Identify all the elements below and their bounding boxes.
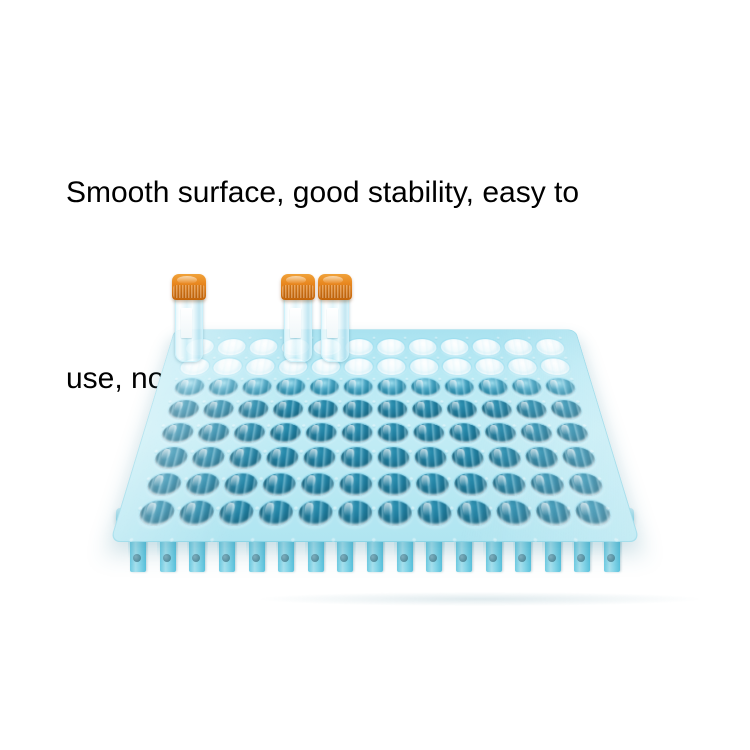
well-r6-c11 — [524, 447, 560, 469]
well-r6-c10 — [487, 447, 522, 469]
well-r2-c11 — [507, 358, 539, 375]
well-r5-c4 — [269, 423, 302, 443]
well-r4-c8 — [412, 400, 443, 419]
well-r4-c11 — [515, 400, 549, 419]
well-r6-c1 — [152, 447, 189, 469]
well-r5-c3 — [232, 423, 266, 443]
well-r6-c5 — [303, 447, 336, 469]
well-r8-c8 — [417, 501, 453, 526]
well-r3-c1 — [173, 379, 206, 397]
well-r5-c2 — [196, 423, 231, 443]
tube-cap — [318, 274, 352, 300]
well-r8-c11 — [534, 501, 573, 526]
well-r3-c2 — [207, 379, 240, 397]
well-r1-c11 — [503, 339, 534, 355]
well-r3-c10 — [477, 379, 509, 397]
well-r4-c7 — [378, 400, 408, 419]
well-r7-c12 — [567, 473, 606, 496]
well-r3-c6 — [343, 379, 372, 397]
well-r2-c2 — [212, 358, 244, 375]
well-r7-c3 — [222, 473, 259, 496]
well-r5-c5 — [305, 423, 337, 443]
well-r8-c6 — [338, 501, 372, 526]
well-r5-c8 — [413, 423, 445, 443]
well-r4-c3 — [237, 400, 270, 419]
well-r1-c8 — [409, 339, 437, 355]
well-r3-c8 — [411, 379, 441, 397]
product-image-page: Smooth surface, good stability, easy to … — [0, 0, 750, 750]
well-r1-c10 — [472, 339, 502, 355]
well-r5-c6 — [341, 423, 372, 443]
well-r5-c11 — [519, 423, 554, 443]
well-r5-c7 — [378, 423, 409, 443]
well-r4-c10 — [480, 400, 513, 419]
well-r6-c12 — [560, 447, 597, 469]
well-r2-c3 — [245, 358, 276, 375]
well-r7-c11 — [529, 473, 567, 496]
well-r3-c7 — [377, 379, 406, 397]
tube-cap — [281, 274, 315, 300]
well-grid — [137, 339, 614, 526]
well-r8-c5 — [297, 501, 333, 526]
well-r1-c9 — [440, 339, 469, 355]
well-r8-c4 — [257, 501, 294, 526]
well-r5-c12 — [555, 423, 591, 443]
well-r8-c7 — [378, 501, 412, 526]
well-r4-c5 — [307, 400, 338, 419]
well-r3-c5 — [309, 379, 339, 397]
well-r8-c9 — [456, 501, 493, 526]
well-r4-c6 — [342, 400, 372, 419]
test-tube-rack — [110, 270, 640, 590]
well-r8-c2 — [177, 501, 216, 526]
well-r6-c7 — [378, 447, 410, 469]
well-r6-c8 — [414, 447, 447, 469]
well-r3-c9 — [444, 379, 475, 397]
well-r2-c12 — [539, 358, 571, 375]
well-r2-c5 — [311, 358, 340, 375]
well-r1-c3 — [249, 339, 279, 355]
rack-top-plate — [110, 329, 640, 542]
well-r2-c8 — [410, 358, 439, 375]
well-r2-c7 — [377, 358, 405, 375]
headline-line-1: Smooth surface, good stability, easy to — [66, 162, 716, 224]
well-r1-c1 — [184, 339, 215, 355]
well-r3-c4 — [275, 379, 306, 397]
well-r1-c5 — [313, 339, 341, 355]
well-r6-c9 — [451, 447, 485, 469]
well-r2-c1 — [178, 358, 210, 375]
well-r2-c6 — [344, 358, 372, 375]
well-r2-c10 — [474, 358, 505, 375]
well-r1-c4 — [281, 339, 310, 355]
well-r8-c12 — [573, 501, 613, 526]
well-r1-c7 — [377, 339, 405, 355]
well-r7-c7 — [378, 473, 411, 496]
well-r2-c9 — [442, 358, 472, 375]
well-r7-c5 — [300, 473, 334, 496]
well-r7-c9 — [453, 473, 488, 496]
well-r6-c2 — [190, 447, 226, 469]
well-r3-c3 — [241, 379, 273, 397]
well-r8-c1 — [137, 501, 177, 526]
well-r3-c12 — [544, 379, 577, 397]
well-r4-c2 — [201, 400, 235, 419]
well-r7-c6 — [339, 473, 372, 496]
well-r7-c1 — [145, 473, 184, 496]
well-r5-c10 — [484, 423, 518, 443]
tube-cap — [172, 274, 206, 300]
well-r8-c10 — [495, 501, 533, 526]
well-r6-c3 — [227, 447, 262, 469]
well-r8-c3 — [217, 501, 255, 526]
well-r7-c2 — [184, 473, 222, 496]
well-r6-c4 — [265, 447, 299, 469]
well-r4-c12 — [549, 400, 584, 419]
well-r2-c4 — [278, 358, 308, 375]
well-r6-c6 — [340, 447, 372, 469]
well-r7-c8 — [416, 473, 450, 496]
well-r4-c1 — [166, 400, 201, 419]
well-r3-c11 — [511, 379, 544, 397]
rack-ground-shadow — [260, 592, 700, 606]
well-r4-c9 — [446, 400, 478, 419]
well-r5-c1 — [160, 423, 196, 443]
well-r7-c4 — [261, 473, 296, 496]
well-r7-c10 — [491, 473, 528, 496]
well-r1-c12 — [535, 339, 566, 355]
well-r1-c2 — [216, 339, 247, 355]
well-r1-c6 — [345, 339, 373, 355]
well-r5-c9 — [448, 423, 481, 443]
product-photo — [0, 250, 750, 630]
well-r4-c4 — [272, 400, 304, 419]
